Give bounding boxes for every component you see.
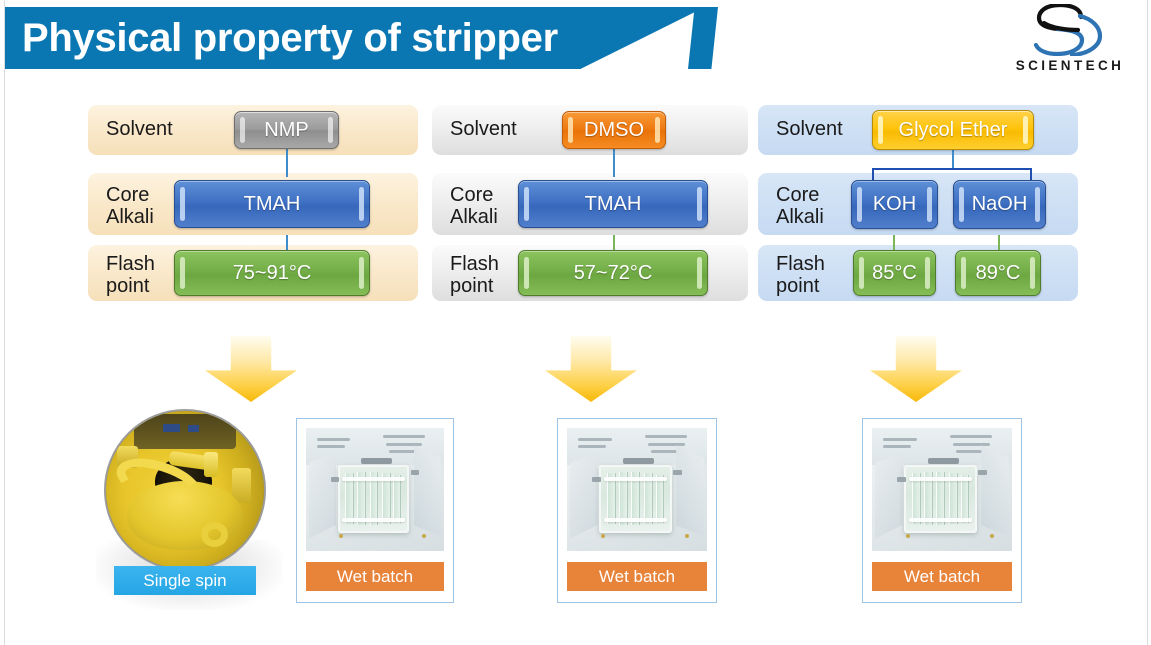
chip-solvent-nmp[interactable]: NMP xyxy=(234,111,339,149)
row-label-flash-point: Flash point xyxy=(450,253,499,298)
slide-frame-left-rule xyxy=(4,0,5,645)
connector-alkali-to-flash xyxy=(613,235,615,251)
chip-flash-point-value[interactable]: 75~91°C xyxy=(174,250,370,296)
down-arrow-icon-glycol-ether xyxy=(870,336,962,402)
row-label-flash-point: Flash point xyxy=(106,253,155,298)
brand-logo: SCIENTECH xyxy=(1000,4,1140,80)
connector-solvent-to-alkali xyxy=(286,149,288,177)
wet-bench-tank-photo[interactable] xyxy=(872,428,1012,551)
single-spin-chamber-photo[interactable] xyxy=(104,409,266,571)
caption-wet-batch[interactable]: Wet batch xyxy=(872,562,1012,591)
chip-alkali-naoh[interactable]: NaOH xyxy=(953,180,1046,229)
row-core-alkali: Core Alkali KOH NaOH xyxy=(758,173,1078,235)
chip-flash-point-value[interactable]: 57~72°C xyxy=(518,250,708,296)
title-banner-accent-sliver xyxy=(688,7,718,69)
connector-solvent-to-alkali xyxy=(613,149,615,177)
slide-frame-right-rule xyxy=(1147,0,1148,645)
down-arrow-icon-dmso xyxy=(545,336,637,402)
wet-bench-tank-photo[interactable] xyxy=(567,428,707,551)
caption-single-spin[interactable]: Single spin xyxy=(114,566,256,595)
row-label-core-alkali: Core Alkali xyxy=(776,184,824,229)
down-arrow-icon-nmp xyxy=(205,336,297,402)
chip-alkali-tmah[interactable]: TMAH xyxy=(518,180,708,228)
chip-flash-point-koh[interactable]: 85°C xyxy=(853,250,936,296)
column-nmp: Solvent NMP Core Alkali TMAH Flash point… xyxy=(88,105,418,301)
caption-wet-batch[interactable]: Wet batch xyxy=(306,562,444,591)
slide-canvas: Physical property of stripper SCIENTECH … xyxy=(0,0,1151,645)
scientech-s-logo-icon xyxy=(1032,4,1104,56)
chip-alkali-koh[interactable]: KOH xyxy=(851,180,938,229)
row-core-alkali: Core Alkali TMAH xyxy=(88,173,418,235)
row-flash-point: Flash point 75~91°C xyxy=(88,245,418,301)
chip-solvent-dmso[interactable]: DMSO xyxy=(562,111,666,149)
row-solvent: Solvent NMP xyxy=(88,105,418,155)
row-label-solvent: Solvent xyxy=(776,118,843,140)
chip-alkali-tmah[interactable]: TMAH xyxy=(174,180,370,228)
column-glycol-ether: Solvent Glycol Ether Core Alkali KOH NaO… xyxy=(758,105,1078,301)
row-core-alkali: Core Alkali TMAH xyxy=(432,173,748,235)
row-label-solvent: Solvent xyxy=(106,118,173,140)
media-wet-batch-glycol-ether: Wet batch xyxy=(862,418,1022,603)
row-solvent: Solvent DMSO xyxy=(432,105,748,155)
media-wet-batch-dmso: Wet batch xyxy=(557,418,717,603)
row-label-core-alkali: Core Alkali xyxy=(106,184,154,229)
wet-bench-tank-photo[interactable] xyxy=(306,428,444,551)
connector-naoh-to-flash xyxy=(998,235,1000,251)
page-title: Physical property of stripper xyxy=(22,10,558,66)
connector-alkali-to-flash xyxy=(286,235,288,251)
row-flash-point: Flash point 85°C 89°C xyxy=(758,245,1078,301)
chip-solvent-glycol-ether[interactable]: Glycol Ether xyxy=(872,110,1034,150)
row-solvent: Solvent Glycol Ether xyxy=(758,105,1078,155)
row-label-flash-point: Flash point xyxy=(776,253,825,298)
media-single-spin xyxy=(104,409,266,571)
caption-wet-batch[interactable]: Wet batch xyxy=(567,562,707,591)
row-flash-point: Flash point 57~72°C xyxy=(432,245,748,301)
connector-koh-to-flash xyxy=(893,235,895,251)
media-wet-batch-nmp: Wet batch xyxy=(296,418,454,603)
row-label-solvent: Solvent xyxy=(450,118,517,140)
row-label-core-alkali: Core Alkali xyxy=(450,184,498,229)
chip-flash-point-naoh[interactable]: 89°C xyxy=(955,250,1041,296)
brand-name: SCIENTECH xyxy=(1000,58,1140,73)
column-dmso: Solvent DMSO Core Alkali TMAH Flash poin… xyxy=(432,105,748,301)
connector-solvent-to-bracket xyxy=(952,150,954,169)
